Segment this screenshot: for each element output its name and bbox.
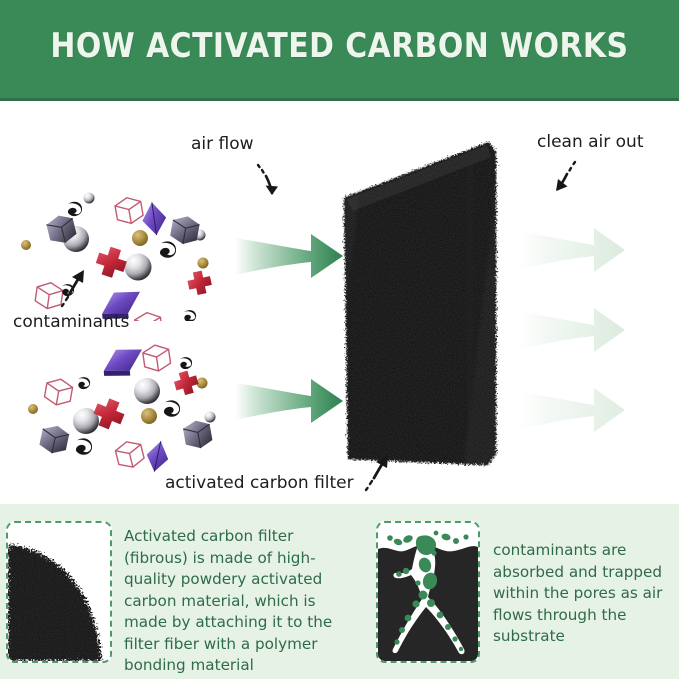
detail-panel-right: contaminants are absorbed and trapped wi… (360, 504, 679, 679)
detail-panel-left: Activated carbon filter (fibrous) is mad… (0, 504, 360, 679)
inlet-air-arrow (233, 224, 345, 293)
bottom-detail-strip: Activated carbon filter (fibrous) is mad… (0, 504, 679, 679)
header-banner: HOW ACTIVATED CARBON WORKS (0, 0, 679, 101)
label-contaminants: contaminants (13, 312, 129, 332)
label-activated-carbon-filter: activated carbon filter (165, 473, 354, 493)
panel-left-description: Activated carbon filter (fibrous) is mad… (124, 526, 356, 677)
panel-right-description: contaminants are absorbed and trapped wi… (493, 540, 673, 648)
inlet-air-arrow (233, 369, 345, 438)
contaminant-cluster-top (14, 186, 229, 326)
up-right-squiggle-arrow-icon (57, 267, 93, 314)
diagram-stage: air flow clean air out contaminants acti… (0, 101, 679, 500)
outlet-clean-air-arrow (519, 219, 627, 286)
contaminant-cluster-bottom (14, 341, 229, 481)
down-left-squiggle-arrow-icon (549, 158, 583, 201)
label-clean-air-out: clean air out (537, 132, 644, 152)
carbon-fiber-closeup-thumbnail (6, 521, 112, 663)
outlet-clean-air-arrow (519, 299, 627, 366)
up-right-squiggle-arrow-icon (362, 453, 398, 498)
pore-adsorption-diagram-thumbnail (376, 521, 480, 663)
outlet-clean-air-arrow (519, 379, 627, 446)
page-title: HOW ACTIVATED CARBON WORKS (41, 26, 639, 66)
infographic-page: HOW ACTIVATED CARBON WORKS (0, 0, 679, 679)
activated-carbon-filter-block (339, 139, 501, 470)
label-air-flow: air flow (191, 134, 254, 154)
down-right-squiggle-arrow-icon (252, 161, 286, 204)
